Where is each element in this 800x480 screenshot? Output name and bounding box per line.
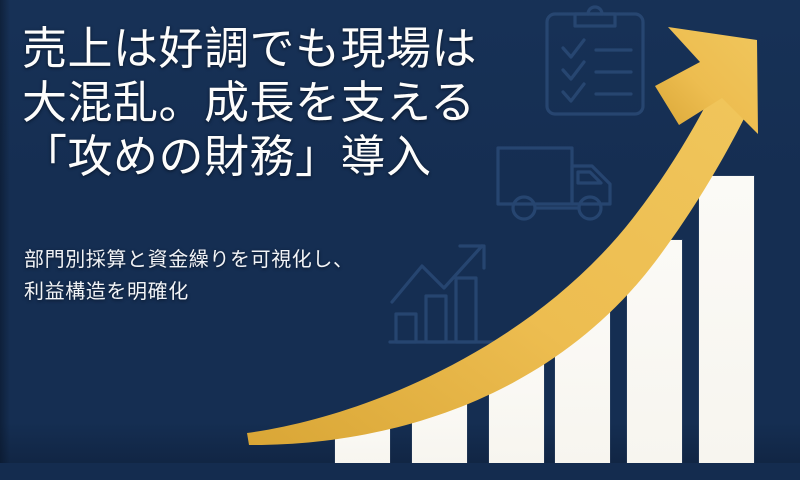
subtitle-line-1: 部門別採算と資金繰りを可視化し、 [24,244,454,276]
subtitle-line-2: 利益構造を明確化 [24,276,454,308]
hero-banner: 売上は好調でも現場は 大混乱。成長を支える 「攻めの財務」導入 部門別採算と資金… [0,0,800,480]
page-subtitle: 部門別採算と資金繰りを可視化し、 利益構造を明確化 [24,244,454,308]
title-line-1: 売上は好調でも現場は [22,22,492,76]
baseline-band [0,463,800,480]
title-line-3: 「攻めの財務」導入 [22,130,492,184]
title-line-2: 大混乱。成長を支える [22,76,492,130]
page-title: 売上は好調でも現場は 大混乱。成長を支える 「攻めの財務」導入 [22,22,492,184]
